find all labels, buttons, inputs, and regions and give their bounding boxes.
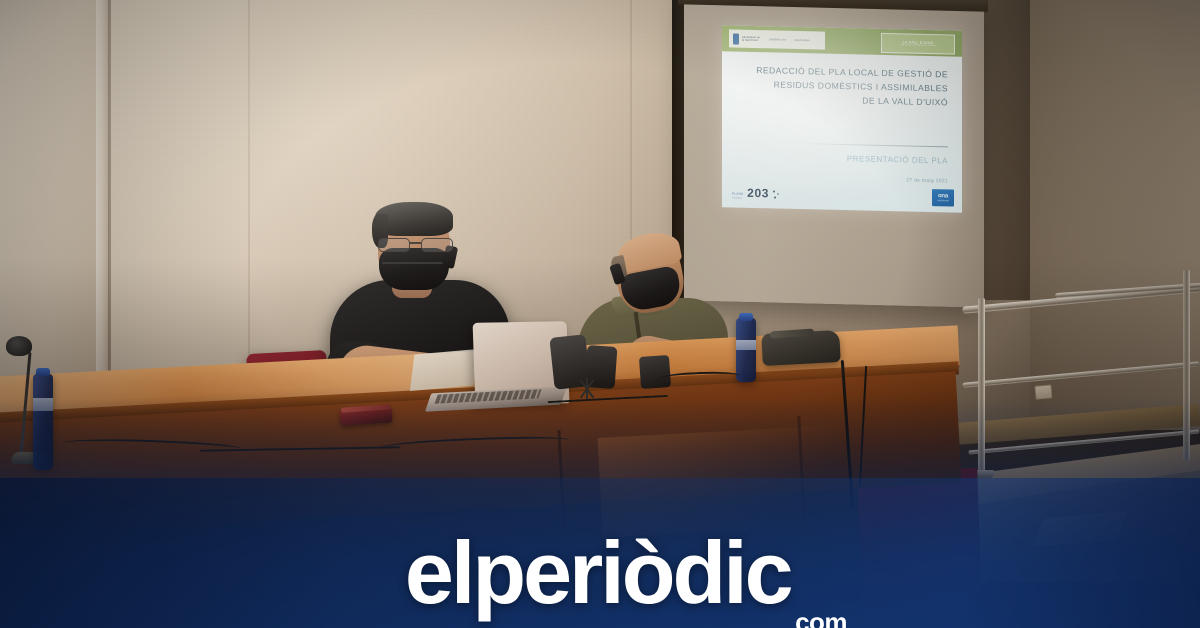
la-vall-duixo-badge: LA VALL D'UIXÓ cap a una nova gestió de … [881, 33, 955, 55]
badge-tagline: cap a una nova gestió de residus [900, 44, 935, 47]
ajuntament-line2: la Vall d'Uixó [742, 39, 760, 43]
water-bottle [736, 318, 756, 382]
bottle-cap [739, 313, 753, 321]
wall-socket [1034, 384, 1052, 399]
bottle-label [736, 340, 756, 350]
valenciana-label: VALENCIANA [794, 38, 810, 41]
table-front-highlight [598, 422, 903, 538]
ona-logo-sub: ambiental [937, 199, 948, 202]
water-bottle [33, 374, 53, 470]
presentation-slide: Ajuntament de la Vall d'Uixó GENERALITAT… [722, 25, 962, 212]
ona-ambiental-logo: ona ambiental [932, 189, 954, 206]
face-mask [379, 248, 449, 290]
plans-label: PLANS [732, 192, 743, 196]
bottle-cap [36, 368, 50, 376]
slide-subtitle: PRESENTACIÓ DEL PLA [742, 152, 948, 166]
dots-icon [773, 188, 780, 200]
handrail-post [1183, 270, 1190, 460]
eyeglass-bridge [409, 242, 421, 244]
ajuntament-crest-logo: Ajuntament de la Vall d'Uixó GENERALITAT… [729, 29, 825, 49]
bottle-label [33, 398, 53, 411]
crest-icon [733, 33, 739, 44]
slide-title: REDACCIÓ DEL PLA LOCAL DE GESTIÓ DE RESI… [742, 64, 948, 110]
eyeglass-lens-right [421, 238, 453, 252]
logo-203: 203 [747, 186, 769, 200]
slide-footer-left: PLANS Residus 203 [732, 186, 780, 201]
papers [410, 349, 478, 391]
slide-date: 27 de maig 2021 [742, 174, 948, 185]
generalitat-label: GENERALITAT [769, 38, 786, 41]
slide-divider [798, 143, 948, 147]
photo-canvas: Ajuntament de la Vall d'Uixó GENERALITAT… [0, 0, 1200, 628]
microphone-tripod [556, 378, 620, 398]
desk-microphone [639, 355, 671, 389]
mask-fold [382, 262, 446, 264]
handrail-post [978, 298, 985, 476]
residus-label: Residus [732, 197, 743, 200]
eyeglasses [377, 238, 453, 250]
eyeglass-lens-left [378, 238, 410, 252]
slide-header-band: Ajuntament de la Vall d'Uixó GENERALITAT… [722, 25, 962, 56]
